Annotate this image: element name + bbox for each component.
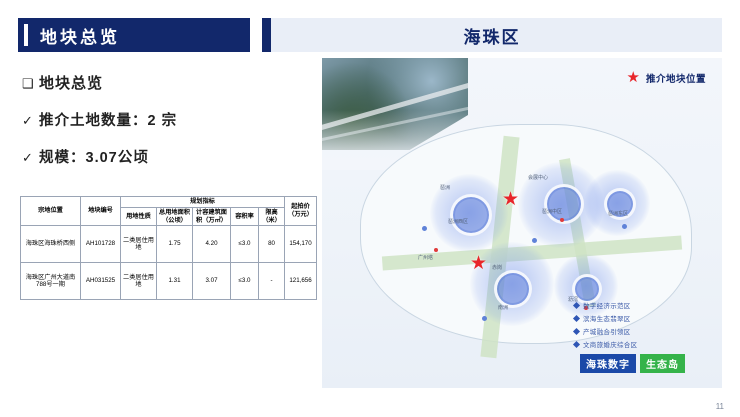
- page-number: 11: [716, 402, 724, 411]
- cell-far: ≤3.0: [231, 263, 259, 300]
- map-note-label: 文商旅婚庆综合区: [583, 339, 637, 349]
- list-item: ✓ 推介土地数量：2 宗: [22, 109, 302, 130]
- diamond-bullet-icon: [573, 340, 580, 347]
- map-note-list: 数字经济示范区 滨海生态翡翠区 产城融合引领区 文商旅婚庆综合区: [574, 300, 710, 352]
- cell-area: 1.75: [157, 226, 193, 263]
- header-left-banner: 地块总览: [18, 18, 250, 52]
- map-note-label: 数字经济示范区: [583, 300, 631, 310]
- brand-secondary-label: 生态岛: [640, 354, 685, 373]
- col-header-far: 容积率: [231, 207, 259, 226]
- list-item: 滨海生态翡翠区: [574, 313, 710, 323]
- list-item: 产城融合引领区: [574, 326, 710, 336]
- zone-marker: [494, 270, 532, 308]
- map-panel: ★ 推介地块位置 ★ ★ 琶洲 会展中心 琶洲西区 琶洲中区 琶洲东: [322, 58, 722, 388]
- cell-area: 1.31: [157, 263, 193, 300]
- list-item-label: 地块总览: [39, 72, 103, 93]
- map-legend: ★ 推介地块位置: [627, 70, 706, 85]
- place-label: 南洲: [498, 304, 508, 311]
- cell-location: 海珠区广州大道南788号一期: [21, 263, 81, 300]
- place-label: 琶洲东区: [608, 210, 628, 217]
- star-icon: ★: [627, 70, 640, 85]
- page-title: 地块总览: [40, 23, 120, 48]
- cell-code: AH101728: [81, 226, 121, 263]
- map-dot: [422, 226, 427, 231]
- col-header-location: 宗地位置: [21, 197, 81, 226]
- col-header-code: 地块编号: [81, 197, 121, 226]
- header-accent-bar: [24, 24, 28, 46]
- list-item: 数字经济示范区: [574, 300, 710, 310]
- brand-primary-label: 海珠数字: [580, 354, 636, 373]
- zone-marker: [450, 194, 492, 236]
- list-item: ✓ 规模：3.07公顷: [22, 146, 302, 167]
- col-header-area: 总用地面积（公顷）: [157, 207, 193, 226]
- map-poi-dot: [434, 248, 438, 252]
- table-row: 海珠区海珠桥西侧 AH101728 二类居住用地 1.75 4.20 ≤3.0 …: [21, 226, 317, 263]
- col-header-use: 用地性质: [121, 207, 157, 226]
- map-dot: [532, 238, 537, 243]
- place-label: 会展中心: [528, 174, 548, 181]
- cell-use: 二类居住用地: [121, 226, 157, 263]
- slide-root: 地块总览 海珠区 ❑ 地块总览 ✓ 推介土地数量：2 宗 ✓ 规模：3.07公顷…: [0, 0, 740, 417]
- table-row: 海珠区广州大道南788号一期 AH031525 二类居住用地 1.31 3.07…: [21, 263, 317, 300]
- district-title: 海珠区: [464, 23, 521, 48]
- cell-gfa: 3.07: [193, 263, 231, 300]
- zone-marker: [544, 184, 584, 224]
- table-header-row-1: 宗地位置 地块编号 规划指标 起拍价（万元）: [21, 197, 317, 208]
- col-header-price: 起拍价（万元）: [285, 197, 317, 226]
- cell-price: 121,656: [285, 263, 317, 300]
- map-note-label: 滨海生态翡翠区: [583, 313, 631, 323]
- diamond-bullet-icon: [573, 301, 580, 308]
- cell-location: 海珠区海珠桥西侧: [21, 226, 81, 263]
- cell-code: AH031525: [81, 263, 121, 300]
- cell-height: -: [259, 263, 285, 300]
- place-label: 琶洲中区: [542, 208, 562, 215]
- list-item: ❑ 地块总览: [22, 72, 302, 93]
- place-label: 琶洲: [440, 184, 450, 191]
- place-label: 赤岗: [492, 264, 502, 271]
- cell-use: 二类居住用地: [121, 263, 157, 300]
- diamond-bullet-icon: [573, 314, 580, 321]
- map-dot: [482, 316, 487, 321]
- bullet-list: ❑ 地块总览 ✓ 推介土地数量：2 宗 ✓ 规模：3.07公顷: [22, 72, 302, 183]
- col-header-height: 限高（米）: [259, 207, 285, 226]
- header-right-accent: [262, 18, 271, 52]
- parcel-star-marker: ★: [470, 254, 487, 273]
- cell-gfa: 4.20: [193, 226, 231, 263]
- header-right-banner: 海珠区: [262, 18, 722, 52]
- check-bullet-icon: ✓: [22, 150, 39, 166]
- cell-far: ≤3.0: [231, 226, 259, 263]
- map-dot: [622, 224, 627, 229]
- parcel-star-marker: ★: [502, 190, 519, 209]
- cell-price: 154,170: [285, 226, 317, 263]
- list-item-label: 规模：3.07公顷: [39, 146, 149, 167]
- place-label: 广州塔: [418, 254, 433, 261]
- map-note-label: 产城融合引领区: [583, 326, 631, 336]
- list-item: 文商旅婚庆综合区: [574, 339, 710, 349]
- check-bullet-icon: ✓: [22, 113, 39, 129]
- list-item-label: 推介土地数量：2 宗: [39, 109, 177, 130]
- col-header-gfa: 计容建筑面积（万㎡）: [193, 207, 231, 226]
- diamond-bullet-icon: [573, 327, 580, 334]
- place-label: 琶洲西区: [448, 218, 468, 225]
- map-poi-dot: [560, 218, 564, 222]
- col-header-group-planning: 规划指标: [121, 197, 285, 208]
- square-bullet-icon: ❑: [22, 76, 39, 92]
- cell-height: 80: [259, 226, 285, 263]
- land-parcel-table: 宗地位置 地块编号 规划指标 起拍价（万元） 用地性质 总用地面积（公顷） 计容…: [20, 196, 317, 300]
- brand-badge: 海珠数字 生态岛: [580, 354, 685, 373]
- map-legend-label: 推介地块位置: [646, 71, 706, 85]
